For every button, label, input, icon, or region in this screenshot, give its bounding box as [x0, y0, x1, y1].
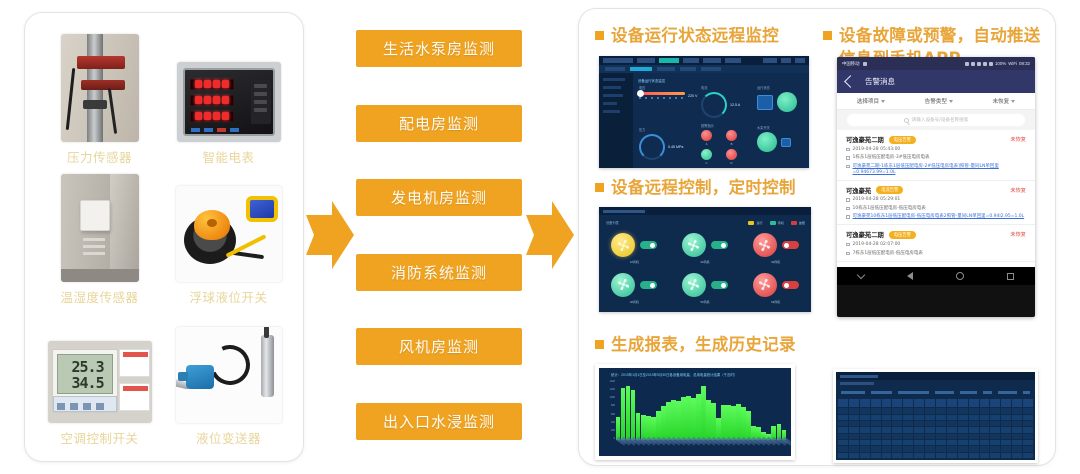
table-cell — [925, 434, 935, 439]
table-cell — [936, 453, 946, 458]
smart-meter-photo — [177, 62, 281, 142]
alarm-time: 2019-04-28 02:07:00 — [853, 242, 901, 248]
pump-toggle-indicator[interactable] — [757, 132, 777, 152]
table-cell — [990, 427, 1000, 432]
alarm-dot-green[interactable] — [701, 149, 712, 160]
power-toggle[interactable] — [782, 281, 799, 289]
table-cell — [990, 415, 1000, 420]
chart-y-tick-label: 1000 — [601, 396, 615, 399]
fan-icon[interactable] — [753, 273, 777, 297]
flow-arrow-2 — [522, 197, 578, 273]
table-cell — [980, 434, 990, 439]
table-cell — [925, 408, 935, 413]
scenario-chip-generator-room[interactable]: 发电机房监测 — [356, 179, 522, 216]
table-cell — [882, 446, 892, 451]
table-cell — [936, 408, 946, 413]
table-cell — [871, 415, 881, 420]
power-toggle[interactable] — [640, 281, 657, 289]
table-cell — [936, 421, 946, 426]
table-cell — [947, 415, 957, 420]
alarm-app-screenshot[interactable]: 中国移动 100% WiFi 08:32 告警消息 选择项目 告警类型 未恢复 — [837, 57, 1035, 317]
table-cell — [871, 421, 881, 426]
filter-status[interactable]: 未恢复 — [992, 97, 1015, 105]
location-icon — [977, 62, 981, 66]
table-cell — [947, 434, 957, 439]
table-cell — [990, 446, 1000, 451]
chart-bar — [691, 398, 695, 440]
table-column-header — [969, 399, 979, 407]
history-report-table[interactable] — [833, 369, 1038, 463]
fan-icon[interactable] — [753, 233, 777, 257]
table-cell — [1023, 446, 1033, 451]
chart-bar — [671, 400, 675, 440]
table-cell — [860, 415, 870, 420]
dashboard-topbar — [599, 56, 809, 65]
table-cell — [1012, 415, 1022, 420]
back-triangle-icon[interactable] — [907, 272, 913, 280]
cell-caption: 电压 — [639, 85, 697, 90]
table-cell — [925, 427, 935, 432]
table-cell — [1023, 408, 1033, 413]
status-indicator-green[interactable] — [777, 92, 797, 112]
table-column-header — [1012, 399, 1022, 407]
cell-caption: 报警指示 — [701, 123, 737, 128]
table-cell — [990, 453, 1000, 458]
table-cell — [849, 408, 859, 413]
table-row[interactable] — [838, 434, 1033, 439]
device-name: 6#风机 — [771, 300, 780, 304]
table-cell — [903, 408, 913, 413]
table-cell — [925, 453, 935, 458]
table-cell — [980, 408, 990, 413]
cell-caption: 压力 — [639, 127, 683, 132]
sync-icon — [983, 62, 987, 66]
table-column-header — [947, 399, 957, 407]
table-cell — [958, 408, 968, 413]
table-cell — [1012, 440, 1022, 445]
legend-item-running: 运行 — [748, 220, 762, 225]
control-device-grid: 1#风机 2#风机 — [599, 229, 811, 308]
chart-y-tick-label: 0 — [601, 437, 615, 440]
chart-bar — [736, 404, 740, 440]
table-cell — [980, 421, 990, 426]
table-cell — [990, 421, 1000, 426]
fan-icon[interactable] — [682, 233, 706, 257]
table-cell — [914, 434, 924, 439]
dashboard-panel-title: 设备运行状态监控 — [638, 78, 804, 83]
table-cell — [914, 440, 924, 445]
phone-filter-bar: 选择项目 告警类型 未恢复 — [837, 93, 1035, 110]
device-icon — [846, 156, 850, 160]
chart-bar — [681, 397, 685, 440]
table-cell — [969, 434, 979, 439]
chart-bar — [631, 390, 635, 440]
volume-icon — [989, 62, 993, 66]
table-column-header — [990, 399, 1000, 407]
table-cell — [860, 427, 870, 432]
table-cell — [947, 446, 957, 451]
table-cell — [980, 453, 990, 458]
table-cell — [936, 427, 946, 432]
temperature-humidity-sensor-photo — [61, 174, 139, 282]
table-cell — [903, 453, 913, 458]
table-cell — [838, 408, 848, 413]
table-column-header — [849, 399, 859, 407]
chart-y-tick-label: 1400 — [601, 380, 615, 383]
table-cell — [903, 446, 913, 451]
phone-system-nav — [837, 267, 1035, 285]
table-header-row — [838, 399, 1033, 407]
table-column-header — [838, 399, 848, 407]
device-label: 液位变送器 — [196, 428, 261, 447]
dashboard-sidebar — [599, 73, 633, 168]
table-breadcrumb — [840, 382, 874, 385]
table-row[interactable] — [838, 427, 1033, 432]
back-arrow-icon[interactable] — [844, 75, 857, 88]
table-filter-row — [836, 388, 1035, 397]
table-cell — [892, 408, 902, 413]
table-cell — [1001, 415, 1011, 420]
table-cell — [849, 434, 859, 439]
search-input[interactable]: 请输入设备号/设备名称搜索 — [847, 114, 1025, 126]
table-cell — [871, 446, 881, 451]
table-cell — [838, 421, 848, 426]
table-cell — [1023, 415, 1033, 420]
chart-bar — [726, 405, 730, 440]
energy-bar-chart[interactable]: 统计：2019年1月1日至2019年9月30日各设备用电量、总用电量统计结果（千… — [595, 364, 795, 460]
phone-search-bar[interactable]: 请输入设备号/设备名称搜索 — [837, 110, 1035, 130]
table-cell — [871, 427, 881, 432]
table-row[interactable] — [838, 408, 1033, 413]
chevron-down-icon — [881, 100, 885, 103]
table-cell — [838, 453, 848, 458]
table-cell — [1023, 427, 1033, 432]
table-cell — [969, 440, 979, 445]
device-label: 压力传感器 — [67, 147, 132, 166]
table-cell — [914, 421, 924, 426]
table-cell — [903, 434, 913, 439]
chevron-down-icon — [949, 100, 953, 103]
chart-bar — [731, 406, 735, 440]
table-cell — [990, 440, 1000, 445]
device-cell-float-switch: 浮球液位开关 — [164, 168, 293, 307]
chart-x-axis — [616, 440, 786, 454]
alarm-detail[interactable]: 可逸豪苑二期-1栋东1层低压配电房-2#低压电房电表]照管-量同LN单回里=0.… — [853, 164, 1027, 176]
table-column-header — [1023, 399, 1033, 407]
table-cell — [849, 440, 859, 445]
table-cell — [882, 453, 892, 458]
alarm-time: 2019-04-28 05:43:00 — [853, 147, 901, 153]
table-column-header — [958, 399, 968, 407]
device-cell-temp-humidity-sensor: 温湿度传感器 — [35, 168, 164, 307]
chart-bar — [666, 402, 670, 440]
control-device-6[interactable]: 6#风机 — [740, 269, 811, 309]
table-cell — [849, 427, 859, 432]
battery-label: 100% — [995, 61, 1006, 66]
scenario-chip-power-distribution-room[interactable]: 配电房监测 — [356, 105, 522, 142]
device-cell-ac-switch: 25.334.5 空调控制开关 — [35, 308, 164, 447]
table-cell — [860, 421, 870, 426]
table-cell — [969, 446, 979, 451]
alarm-status: 未恢复 — [1010, 187, 1026, 194]
table-column-header — [860, 399, 870, 407]
table-cell — [947, 453, 957, 458]
table-cell — [903, 421, 913, 426]
features-card: 设备运行状态远程监控 设备故障或预警，自动推送信息到手机APP 设备远程控制，定… — [578, 8, 1056, 466]
clock-label: 08:32 — [1019, 61, 1030, 66]
table-cell — [838, 446, 848, 451]
table-cell — [914, 408, 924, 413]
square-bullet-icon — [823, 31, 832, 40]
chart-bar — [711, 403, 715, 440]
level-transmitter-photo — [176, 327, 282, 423]
pump-tile-icon[interactable] — [781, 138, 791, 147]
device-gallery-card: 压力传感器 智能电表 温湿度传感器 — [24, 12, 304, 462]
table-row[interactable] — [838, 453, 1033, 458]
control-device-2[interactable]: 2#风机 — [670, 229, 741, 269]
fan-icon[interactable] — [611, 273, 635, 297]
alarm-list-item[interactable]: 可逸豪苑二期 电压告警 未恢复 2019-04-28 05:43:00 1栋东1… — [837, 130, 1035, 181]
table-column-header — [914, 399, 924, 407]
table-cell — [958, 434, 968, 439]
alarm-list[interactable]: 可逸豪苑二期 电压告警 未恢复 2019-04-28 05:43:00 1栋东1… — [837, 130, 1035, 267]
table-cell — [860, 408, 870, 413]
table-cell — [1001, 421, 1011, 426]
remote-control-panel[interactable]: 设备列表 运行 待机 故障 1#风机 — [599, 207, 811, 312]
table-row[interactable] — [838, 440, 1033, 445]
table-cell — [958, 446, 968, 451]
carrier-label: 中国移动 — [842, 61, 860, 67]
filter-project[interactable]: 选择项目 — [857, 97, 885, 105]
control-device-3[interactable]: 3#风机 — [740, 229, 811, 269]
table-cell — [925, 440, 935, 445]
alarm-detail[interactable]: 可逸豪苑10栋东1层低压配电房-低压电房电表2照管-量同LN单回里=0.94I2… — [853, 214, 1025, 220]
table-cell — [958, 421, 968, 426]
square-bullet-icon — [595, 340, 604, 349]
dashboard-cell-voltage: 电压 220 V — [639, 85, 697, 99]
chevron-down-icon — [1011, 100, 1015, 103]
table-cell — [990, 408, 1000, 413]
status-tile-icon — [757, 95, 773, 110]
table-cell — [903, 440, 913, 445]
control-device-5[interactable]: 5#风机 — [670, 269, 741, 309]
table-cell — [969, 415, 979, 420]
scenario-chip-fire-system[interactable]: 消防系统监测 — [356, 254, 522, 291]
table-column-header — [925, 399, 935, 407]
table-cell — [903, 427, 913, 432]
right-arrow-icon — [302, 197, 358, 273]
table-cell — [871, 440, 881, 445]
pressure-sensor-photo — [61, 34, 139, 142]
control-legend: 运行 待机 故障 — [748, 220, 805, 225]
alarm-dot-red[interactable] — [726, 130, 737, 141]
control-subtitle: 设备列表 — [606, 220, 619, 225]
chart-bar — [676, 401, 680, 440]
recents-square-icon[interactable] — [1007, 273, 1014, 280]
table-cell — [1012, 421, 1022, 426]
table-cell — [882, 434, 892, 439]
table-cell — [882, 408, 892, 413]
table-cell — [936, 415, 946, 420]
scenario-chip-fan-room[interactable]: 风机房监测 — [356, 328, 522, 365]
table-cell — [882, 415, 892, 420]
table-cell — [936, 446, 946, 451]
cell-value: 0.45 MPa — [668, 145, 683, 149]
device-cell-level-transmitter: 液位变送器 — [164, 308, 293, 447]
table-cell — [1001, 434, 1011, 439]
table-column-header — [871, 399, 881, 407]
table-topbar — [836, 372, 1035, 380]
chart-bar — [696, 394, 700, 440]
power-toggle[interactable] — [711, 281, 728, 289]
table-cell — [871, 434, 881, 439]
chart-bar — [741, 407, 745, 440]
right-arrow-icon — [522, 197, 578, 273]
dashboard-subbar — [599, 65, 809, 73]
device-cell-pressure-sensor: 压力传感器 — [35, 27, 164, 166]
alarm-status: 未恢复 — [1010, 231, 1026, 238]
table-cell — [990, 434, 1000, 439]
table-cell — [1001, 427, 1011, 432]
alarm-dot-red[interactable] — [701, 130, 712, 141]
alarm-project: 可逸豪苑二期 — [846, 135, 884, 144]
alarm-list-item[interactable]: 可逸豪苑二期 电压告警 未恢复 2019-04-28 02:07:00 7栋东1… — [837, 225, 1035, 261]
table-cell — [860, 446, 870, 451]
table-cell — [838, 427, 848, 432]
dashboard-cell-pump-switch: 水泵开关 — [757, 125, 791, 152]
table-cell — [947, 440, 957, 445]
alarm-list-item[interactable]: 可逸豪苑 电流告警 未恢复 2019-04-28 05:29:01 10栋东1层… — [837, 181, 1035, 226]
detail-icon — [846, 215, 850, 219]
table-cell — [936, 434, 946, 439]
chart-y-axis: 1400120010008006004002000 — [601, 380, 615, 440]
monitoring-scenario-list: 生活水泵房监测 配电房监测 发电机房监测 消防系统监测 风机房监测 出入口水浸监… — [356, 30, 522, 440]
phone-page-title: 告警消息 — [865, 76, 895, 87]
table-cell — [1012, 434, 1022, 439]
device-status-dashboard[interactable]: 设备运行状态监控 电压 220 V 电流 12.5 A — [599, 56, 809, 168]
clock-icon — [846, 198, 850, 202]
table-cell — [980, 440, 990, 445]
infographic-root: 压力传感器 智能电表 温湿度传感器 — [0, 0, 1080, 474]
device-icon — [846, 252, 850, 256]
fan-icon[interactable] — [611, 233, 635, 257]
device-label: 空调控制开关 — [60, 428, 138, 447]
table-cell — [914, 415, 924, 420]
cell-value: 220 V — [688, 94, 697, 98]
table-cell — [892, 440, 902, 445]
table-cell — [892, 453, 902, 458]
scenario-chip-water-pump-room[interactable]: 生活水泵房监测 — [356, 30, 522, 67]
alarm-project: 可逸豪苑 — [846, 186, 871, 195]
alarm-dot-red[interactable] — [726, 149, 737, 160]
table-cell — [980, 446, 990, 451]
table-cell — [849, 453, 859, 458]
alarm-device: 7栋东1层低压配电房-低压电房电表 — [853, 251, 923, 257]
device-name: 4#风机 — [630, 300, 639, 304]
table-cell — [1012, 408, 1022, 413]
table-cell — [925, 446, 935, 451]
table-cell — [1023, 453, 1033, 458]
table-cell — [1012, 446, 1022, 451]
table-row[interactable] — [838, 415, 1033, 420]
table-cell — [1023, 434, 1033, 439]
cell-caption: 电流 — [701, 85, 740, 90]
power-toggle[interactable] — [782, 241, 799, 249]
table-cell — [838, 434, 848, 439]
table-cell — [947, 421, 957, 426]
dashboard-cell-pressure: 压力 0.45 MPa — [639, 127, 683, 160]
table-cell — [1001, 453, 1011, 458]
table-cell — [958, 453, 968, 458]
alarm-project: 可逸豪苑二期 — [846, 230, 884, 239]
table-cell — [969, 421, 979, 426]
feature-heading-text: 设备远程控制，定时控制 — [611, 177, 796, 200]
chart-bar — [621, 388, 625, 440]
table-cell — [969, 427, 979, 432]
table-cell — [914, 453, 924, 458]
table-row[interactable] — [838, 446, 1033, 451]
clock-icon — [846, 148, 850, 152]
alarm-device: 1栋东1层低压配电房-3#低压电房电表 — [853, 155, 930, 161]
table-cell — [980, 427, 990, 432]
table-column-header — [903, 399, 913, 407]
alarm-icon — [965, 62, 969, 66]
chart-y-tick-label: 200 — [601, 429, 615, 432]
chevron-down-icon[interactable] — [857, 270, 865, 278]
table-cell — [958, 415, 968, 420]
table-cell — [1001, 440, 1011, 445]
table-cell — [958, 427, 968, 432]
alarm-type-badge: 电流告警 — [876, 186, 903, 194]
control-device-1[interactable]: 1#风机 — [599, 229, 670, 269]
table-cell — [871, 408, 881, 413]
float-level-switch-photo — [176, 186, 282, 282]
table-cell — [1001, 446, 1011, 451]
table-cell — [925, 421, 935, 426]
feature-heading-remote-control: 设备远程控制，定时控制 — [595, 177, 810, 200]
scenario-chip-entrance-flood[interactable]: 出入口水浸监测 — [356, 403, 522, 440]
signal-icon — [863, 62, 867, 66]
device-name: 5#风机 — [700, 300, 709, 304]
dashboard-body: 设备运行状态监控 电压 220 V 电流 12.5 A — [633, 73, 809, 168]
table-column-header — [882, 399, 892, 407]
alarm-status: 未恢复 — [1010, 136, 1026, 143]
table-cell — [849, 421, 859, 426]
power-toggle[interactable] — [640, 241, 657, 249]
fan-icon[interactable] — [682, 273, 706, 297]
table-cell — [936, 440, 946, 445]
table-row[interactable] — [838, 421, 1033, 426]
table-cell — [914, 427, 924, 432]
chart-plot-area — [616, 381, 786, 440]
table-cell — [838, 415, 848, 420]
table-cell — [903, 415, 913, 420]
table-grid — [838, 399, 1033, 458]
home-circle-icon[interactable] — [956, 272, 964, 280]
alarm-time: 2019-04-28 05:29:01 — [853, 197, 901, 203]
table-column-header — [1001, 399, 1011, 407]
power-toggle[interactable] — [711, 241, 728, 249]
table-cell — [892, 421, 902, 426]
table-cell — [1023, 440, 1033, 445]
alarm-type-badge: 电压告警 — [889, 136, 916, 144]
table-cell — [947, 427, 957, 432]
control-device-4[interactable]: 4#风机 — [599, 269, 670, 309]
table-cell — [1001, 408, 1011, 413]
chart-y-tick-label: 600 — [601, 413, 615, 416]
filter-alarm-type[interactable]: 告警类型 — [925, 97, 953, 105]
legend-item-standby: 待机 — [770, 220, 784, 225]
